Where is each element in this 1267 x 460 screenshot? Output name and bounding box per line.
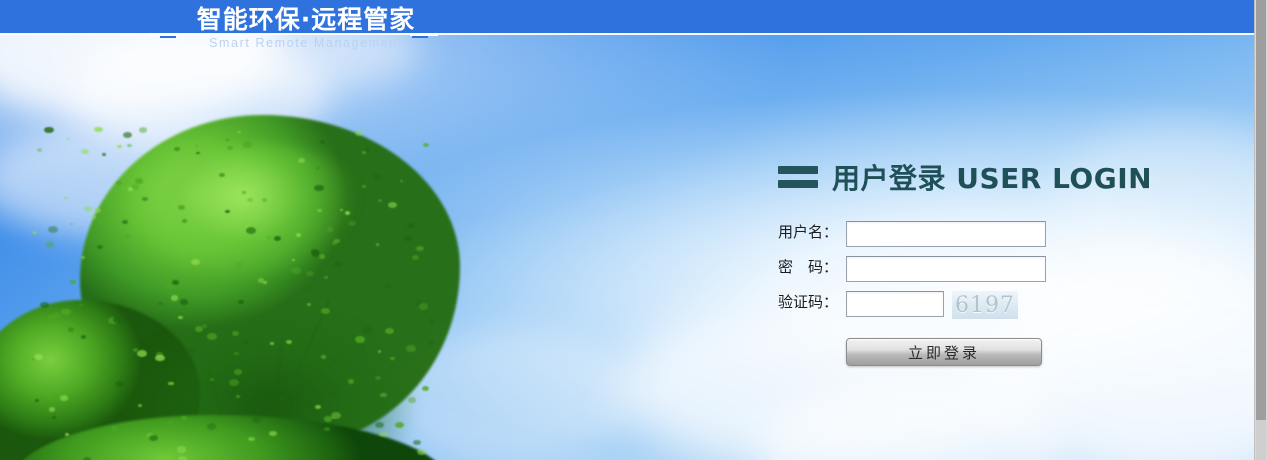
- username-label: 用户名：: [778, 223, 840, 242]
- leaf-speck: [64, 197, 67, 199]
- leaf-speck: [102, 153, 106, 156]
- leaf-speck: [47, 397, 52, 400]
- leaf-speck: [422, 386, 429, 391]
- leaf-speck: [315, 405, 321, 409]
- leaf-speck: [168, 382, 173, 386]
- leaf-speck: [115, 381, 124, 387]
- leaf-speck: [423, 143, 429, 147]
- leaf-speck: [270, 342, 274, 345]
- leaf-speck: [291, 267, 301, 274]
- leaf-speck: [70, 223, 73, 225]
- leaf-speck: [311, 249, 319, 254]
- leaf-speck: [187, 349, 194, 354]
- leaf-speck: [57, 432, 63, 436]
- two-bars-icon: [778, 166, 818, 188]
- leaf-speck: [237, 131, 240, 133]
- leaf-speck: [177, 446, 186, 452]
- username-input[interactable]: [846, 221, 1046, 247]
- leaf-speck: [404, 235, 412, 240]
- leaf-speck: [135, 178, 143, 184]
- leaf-speck: [191, 259, 200, 265]
- leaf-speck: [243, 340, 249, 344]
- leaf-speck: [375, 376, 381, 380]
- leaf-speck: [327, 227, 333, 231]
- leaf-speck: [32, 231, 37, 235]
- leaf-speck: [49, 407, 55, 411]
- leaf-speck: [174, 147, 180, 151]
- leaf-speck: [70, 280, 76, 284]
- leaf-speck: [37, 148, 43, 152]
- login-heading-text: 用户登录 USER LOGIN: [832, 157, 1152, 197]
- brand-logo: 智能环保·远程管家 Smart Remote Management: [186, 6, 426, 51]
- leaf-speck: [324, 276, 328, 279]
- form-row-username: 用户名：: [778, 221, 1158, 247]
- leaf-speck: [84, 206, 92, 212]
- leaf-speck: [246, 227, 256, 234]
- leaf-speck: [379, 433, 383, 436]
- leaf-speck: [48, 226, 58, 233]
- leaf-speck: [238, 300, 244, 304]
- leaf-speck: [329, 391, 338, 397]
- leaf-speck: [292, 259, 296, 262]
- leaf-speck: [355, 336, 365, 343]
- tree-image: [0, 115, 490, 460]
- leaf-speck: [48, 314, 56, 320]
- login-heading: 用户登录 USER LOGIN: [778, 155, 1158, 199]
- login-page: 智能环保·远程管家 Smart Remote Management 用户登录 U…: [0, 0, 1267, 460]
- captcha-label: 验证码：: [778, 293, 840, 312]
- leaf-speck: [417, 449, 426, 455]
- leaf-speck: [234, 369, 242, 375]
- form-row-captcha: 验证码： 6197: [778, 291, 1158, 319]
- login-form: 用户名： 密 码： 验证码： 6197 立即登录: [778, 221, 1158, 366]
- brand-subtitle: Smart Remote Management: [186, 35, 426, 51]
- leaf-speck: [361, 346, 364, 348]
- leaf-speck: [67, 138, 70, 140]
- leaf-speck: [113, 316, 123, 323]
- vertical-scrollbar[interactable]: [1254, 0, 1267, 460]
- leaf-speck: [296, 233, 301, 237]
- leaf-speck: [236, 262, 242, 266]
- leaf-speck: [324, 427, 330, 431]
- password-label: 密 码：: [778, 258, 840, 277]
- leaf-speck: [94, 208, 101, 213]
- leaf-speck: [91, 215, 96, 219]
- leaf-speck: [348, 221, 355, 226]
- leaf-speck: [400, 180, 403, 182]
- leaf-speck: [376, 243, 379, 245]
- leaf-speck: [263, 281, 266, 283]
- leaf-speck: [390, 357, 395, 360]
- submit-row: 立即登录: [846, 338, 1158, 366]
- leaf-speck: [378, 199, 382, 202]
- leaf-speck: [262, 198, 267, 202]
- logo-dash-left-icon: [150, 33, 178, 36]
- leaf-speck: [415, 127, 418, 129]
- leaf-speck: [137, 350, 147, 357]
- leaf-speck: [307, 287, 311, 290]
- leaf-speck: [117, 145, 122, 149]
- leaf-speck: [207, 333, 216, 339]
- scrollbar-track[interactable]: [1256, 420, 1266, 460]
- leaf-speck: [158, 302, 163, 305]
- leaf-speck: [429, 319, 434, 323]
- leaf-speck: [232, 331, 239, 336]
- leaf-speck: [385, 328, 394, 334]
- leaf-speck: [320, 140, 326, 144]
- leaf-speck: [279, 397, 285, 401]
- leaf-speck: [149, 435, 157, 441]
- leaf-speck: [123, 132, 132, 138]
- leaf-speck: [412, 255, 419, 260]
- captcha-image[interactable]: 6197: [952, 291, 1018, 319]
- leaf-speck: [243, 141, 252, 148]
- login-panel: 用户登录 USER LOGIN 用户名： 密 码： 验证码： 6197 立即登录: [778, 155, 1158, 366]
- leaf-speck: [319, 254, 325, 259]
- leaf-speck: [234, 352, 239, 356]
- leaf-speck: [81, 335, 87, 339]
- leaf-speck: [252, 417, 261, 423]
- leaf-speck: [413, 440, 421, 445]
- leaf-speck: [348, 379, 354, 383]
- leaf-speck: [171, 295, 179, 300]
- leaf-speck: [407, 223, 415, 229]
- leaf-speck: [408, 397, 417, 403]
- leaf-speck: [178, 456, 187, 460]
- leaf-speck: [81, 149, 89, 155]
- leaf-speck: [195, 145, 198, 147]
- leaf-speck: [242, 191, 245, 193]
- leaf-speck: [34, 354, 43, 360]
- login-submit-button[interactable]: 立即登录: [846, 338, 1042, 366]
- leaf-speck: [139, 127, 147, 133]
- leaf-speck: [60, 395, 68, 400]
- leaf-speck: [267, 236, 271, 239]
- leaf-speck: [46, 241, 55, 247]
- captcha-input[interactable]: [846, 291, 944, 317]
- leaf-speck: [142, 197, 148, 201]
- leaf-speck: [296, 373, 302, 377]
- leaf-speck: [378, 350, 381, 352]
- leaf-speck: [61, 309, 70, 316]
- leaf-speck: [321, 355, 326, 358]
- brand-title: 智能环保·远程管家: [186, 6, 426, 34]
- leaf-speck: [333, 359, 336, 361]
- leaf-speck: [178, 205, 185, 210]
- leaf-speck: [94, 127, 102, 133]
- leaf-speck: [127, 144, 131, 147]
- leaf-speck: [229, 379, 238, 386]
- form-row-password: 密 码：: [778, 256, 1158, 282]
- leaf-speck: [406, 345, 416, 352]
- leaf-speck: [321, 308, 329, 314]
- leaf-speck: [128, 187, 133, 191]
- leaf-speck: [182, 219, 187, 223]
- leaf-speck: [35, 399, 39, 402]
- scrollbar-thumb[interactable]: [1256, 0, 1266, 420]
- leaf-speck: [286, 340, 292, 344]
- leaf-speck: [227, 146, 233, 150]
- leaf-speck: [279, 349, 283, 352]
- leaf-speck: [116, 181, 121, 185]
- leaf-speck: [44, 127, 54, 134]
- password-input[interactable]: [846, 256, 1046, 282]
- leaf-speck: [172, 280, 179, 285]
- leaf-speck: [52, 416, 56, 419]
- leaf-speck: [395, 422, 404, 428]
